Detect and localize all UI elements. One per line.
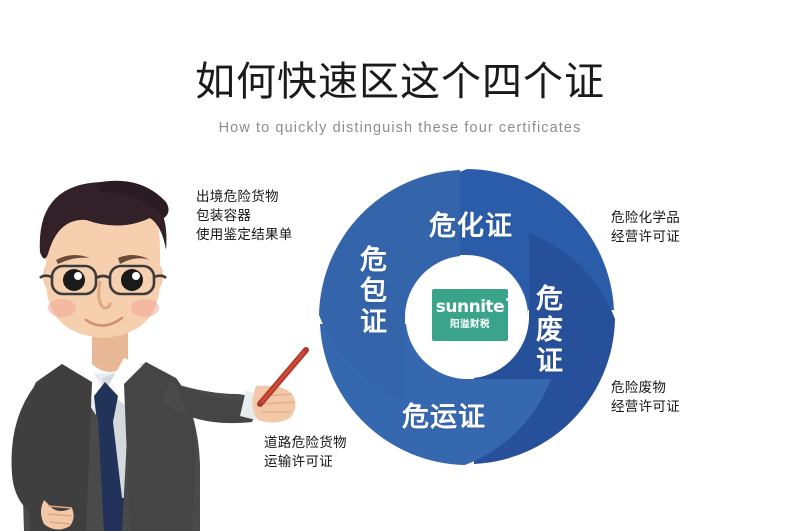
segment-label-top[interactable]: 危化证 — [429, 204, 513, 243]
page-subtitle: How to quickly distinguish these four ce… — [0, 118, 800, 138]
callout-bottom-left: 道路危险货物 运输许可证 — [264, 433, 347, 471]
callout-top-left: 出境危险货物 包装容器 使用鉴定结果单 — [196, 187, 293, 244]
callout-bottom-right: 危险废物 经营许可证 — [611, 378, 680, 416]
poster-canvas: 如何快速区这个四个证 How to quickly distinguish th… — [0, 0, 800, 531]
header-block: 如何快速区这个四个证 How to quickly distinguish th… — [0, 56, 800, 138]
segment-label-left[interactable]: 危包证 — [359, 245, 389, 338]
callout-top-right: 危险化学品 经营许可证 — [611, 208, 680, 246]
center-logo: sunnite 阳溢财税 — [432, 289, 508, 341]
segment-label-right[interactable]: 危废证 — [535, 284, 565, 377]
logo-wordmark-label: sunnite — [436, 297, 504, 317]
logo-wordmark-text: sunnite — [436, 299, 504, 316]
page-title: 如何快速区这个四个证 — [0, 56, 800, 108]
pinwheel-diagram: 危化证 危废证 危运证 危包证 sunnite 阳溢财税 — [317, 167, 617, 467]
segment-label-bottom[interactable]: 危运证 — [402, 395, 486, 434]
logo-chinese-text: 阳溢财税 — [450, 319, 490, 331]
